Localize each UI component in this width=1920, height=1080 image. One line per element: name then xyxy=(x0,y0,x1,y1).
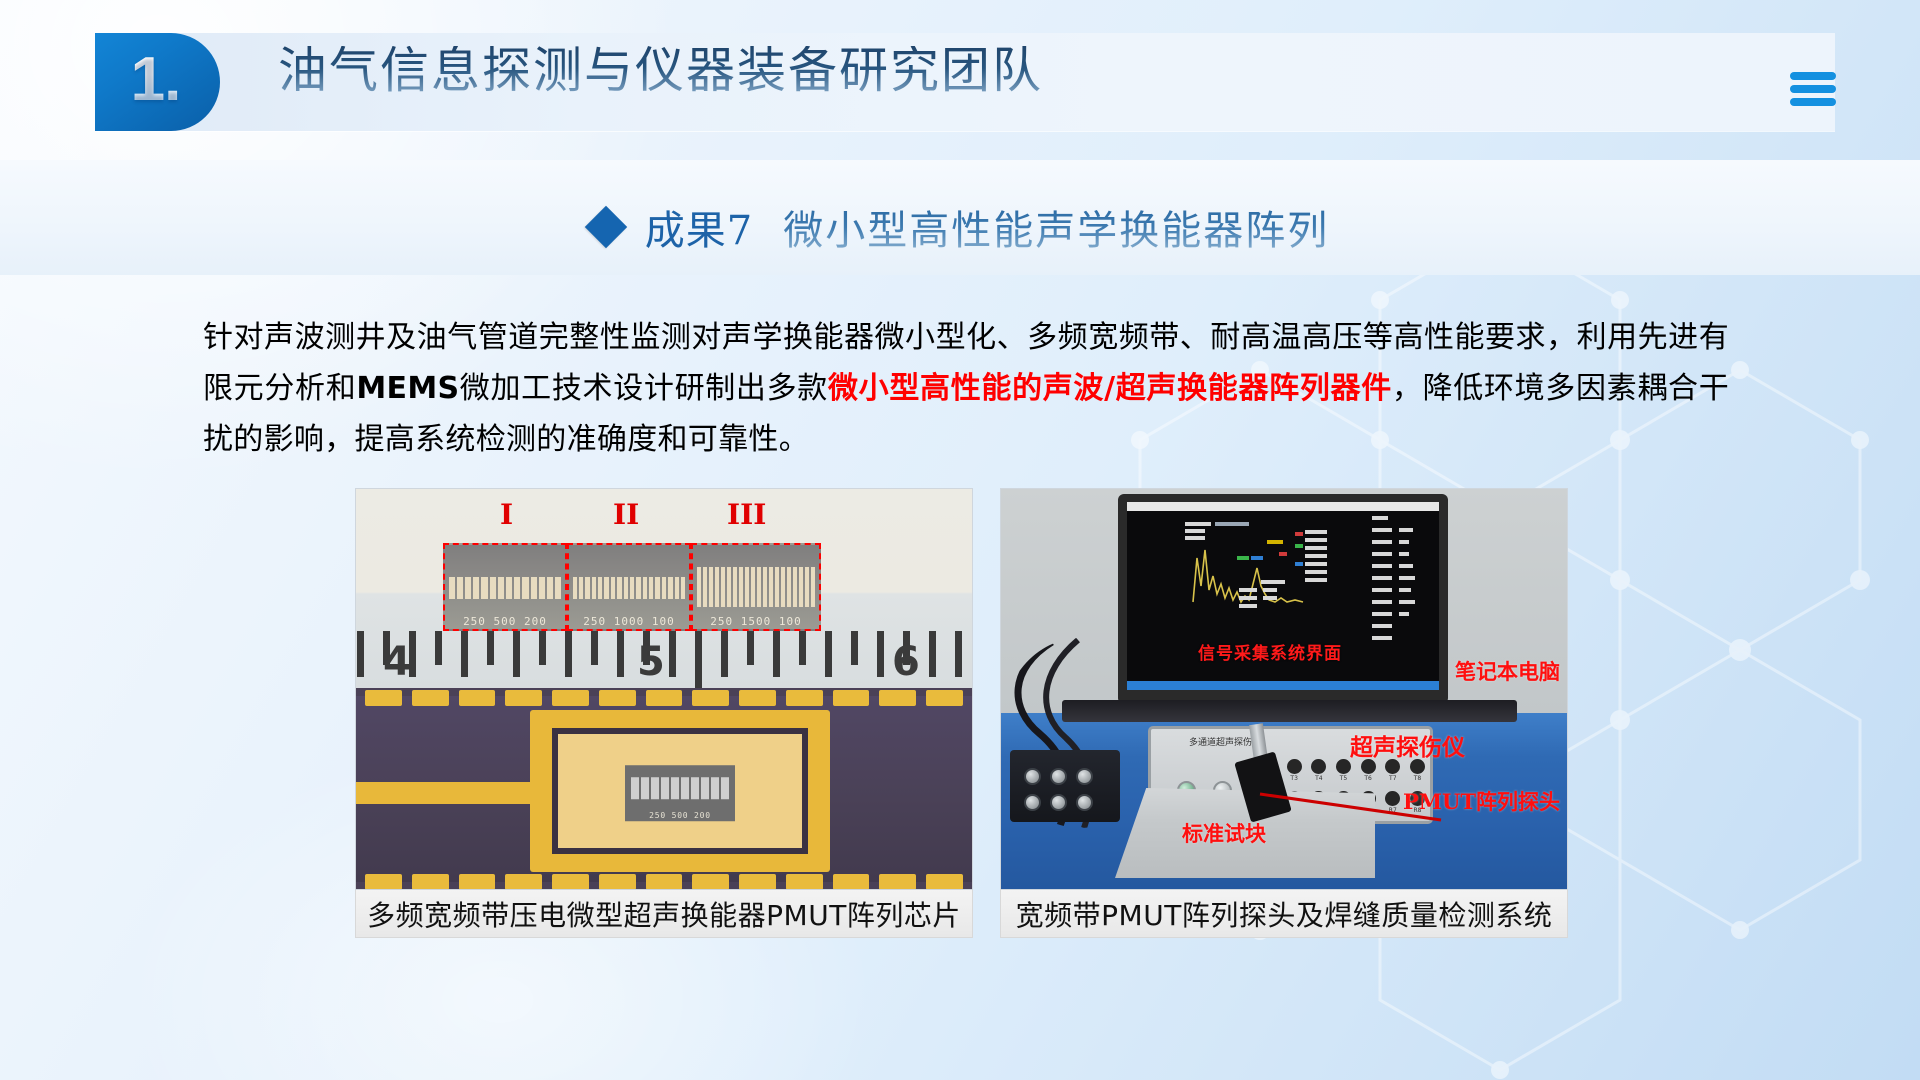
annotation-test-block: 标准试块 xyxy=(1182,818,1266,848)
die-array-1 xyxy=(449,577,562,599)
lab-scene: 信号采集系统界面 多通道超声探伤仪 xyxy=(1000,488,1568,890)
region-box-2: 250 1000 100 xyxy=(567,543,691,631)
port-T4: T4 xyxy=(1310,759,1327,782)
region-spec-2: 250 1000 100 xyxy=(569,615,689,628)
page-title: 油气信息探测与仪器装备研究团队 xyxy=(278,46,1043,95)
annotation-flaw-detector: 超声探伤仪 xyxy=(1350,728,1465,762)
chip-pins-top xyxy=(355,690,973,706)
region-box-1: 250 500 200 xyxy=(443,543,567,631)
chip-gold-frame: 250 500 200 xyxy=(530,710,830,872)
hamburger-bar-2 xyxy=(1790,85,1836,93)
annotation-signal-acquisition-ui: 信号采集系统界面 xyxy=(1155,639,1385,664)
body-segment-3: 微加工技术设计研制出多款 xyxy=(459,371,828,406)
port-T5: T5 xyxy=(1335,759,1352,782)
junction-box xyxy=(1010,750,1120,822)
diamond-bullet-icon xyxy=(585,206,627,248)
ruler-scene: I II III 250 500 200 250 1000 100 xyxy=(355,488,973,688)
subtitle-tag: 成果7 xyxy=(645,198,753,256)
chip-cavity: 250 500 200 xyxy=(552,728,808,854)
port-T3: T3 xyxy=(1286,759,1303,782)
laptop: 信号采集系统界面 xyxy=(1118,494,1448,704)
subtitle-row: 成果7 微小型高性能声学换能器阵列 xyxy=(0,198,1920,256)
region-roman-1: I xyxy=(500,498,513,531)
body-segment-highlight: 微小型高性能的声波/超声换能器阵列器件 xyxy=(828,371,1392,406)
die-spec-label: 250 500 200 xyxy=(625,811,735,820)
region-spec-1: 250 500 200 xyxy=(445,615,565,628)
section-number-label: 1. xyxy=(131,49,185,111)
port-T7: T7 xyxy=(1384,759,1401,782)
slide-canvas: 1. 油气信息探测与仪器装备研究团队 成果7 微小型高性能声学换能器阵列 针对声… xyxy=(0,0,1920,1080)
subtitle-title: 微小型高性能声学换能器阵列 xyxy=(783,198,1329,256)
figure-caption-left: 多频宽频带压电微型超声换能器PMUT阵列芯片 xyxy=(355,890,973,938)
chip-lead-trace xyxy=(355,782,535,804)
body-segment-mems: MEMS xyxy=(356,371,459,406)
photo-lab-setup: 信号采集系统界面 多通道超声探伤仪 xyxy=(1000,488,1568,890)
annotation-laptop: 笔记本电脑 xyxy=(1455,656,1560,686)
screen-titlebar xyxy=(1127,502,1439,511)
signal-waveform-plot xyxy=(1189,528,1309,606)
ruler-number-4: 4 xyxy=(383,639,411,685)
hamburger-bar-1 xyxy=(1790,72,1836,80)
port-T6: T6 xyxy=(1360,759,1377,782)
hamburger-bar-3 xyxy=(1790,98,1836,106)
region-spec-3: 250 1500 100 xyxy=(693,615,819,628)
region-box-3: 250 1500 100 xyxy=(691,543,821,631)
hamburger-icon[interactable] xyxy=(1790,72,1836,106)
annotation-pmut-probe: PMUT阵列探头 xyxy=(1403,786,1560,816)
figure-weld-inspection-system: 信号采集系统界面 多通道超声探伤仪 xyxy=(1000,488,1568,890)
figure-caption-right: 宽频带PMUT阵列探头及焊缝质量检测系统 xyxy=(1000,890,1568,938)
die-element-row xyxy=(631,777,729,799)
chip-die: 250 500 200 xyxy=(625,765,735,821)
port-T8: T8 xyxy=(1409,759,1426,782)
section-number-badge: 1. xyxy=(95,33,220,131)
figure-pmut-chip: I II III 250 500 200 250 1000 100 xyxy=(355,488,973,890)
region-roman-2: II xyxy=(613,498,639,531)
region-roman-3: III xyxy=(727,498,766,531)
body-paragraph: 针对声波测井及油气管道完整性监测对声学换能器微小型化、多频宽频带、耐高温高压等高… xyxy=(203,312,1729,465)
photo-pmut-chip: I II III 250 500 200 250 1000 100 xyxy=(355,488,973,890)
ruler-number-6: 6 xyxy=(892,639,920,685)
chip-pins-bottom xyxy=(355,874,973,890)
transmit-port-row: T2 T3 T4 T5 T6 T7 T8 xyxy=(1261,759,1426,782)
die-array-2 xyxy=(573,577,686,599)
screen-taskbar xyxy=(1127,681,1439,690)
die-array-3 xyxy=(697,567,815,607)
packaged-chip-scene: 250 500 200 xyxy=(355,688,973,890)
ruler-number-5: 5 xyxy=(637,639,665,685)
laptop-screen: 信号采集系统界面 xyxy=(1127,502,1439,690)
chip-package-body: 250 500 200 xyxy=(355,696,973,882)
